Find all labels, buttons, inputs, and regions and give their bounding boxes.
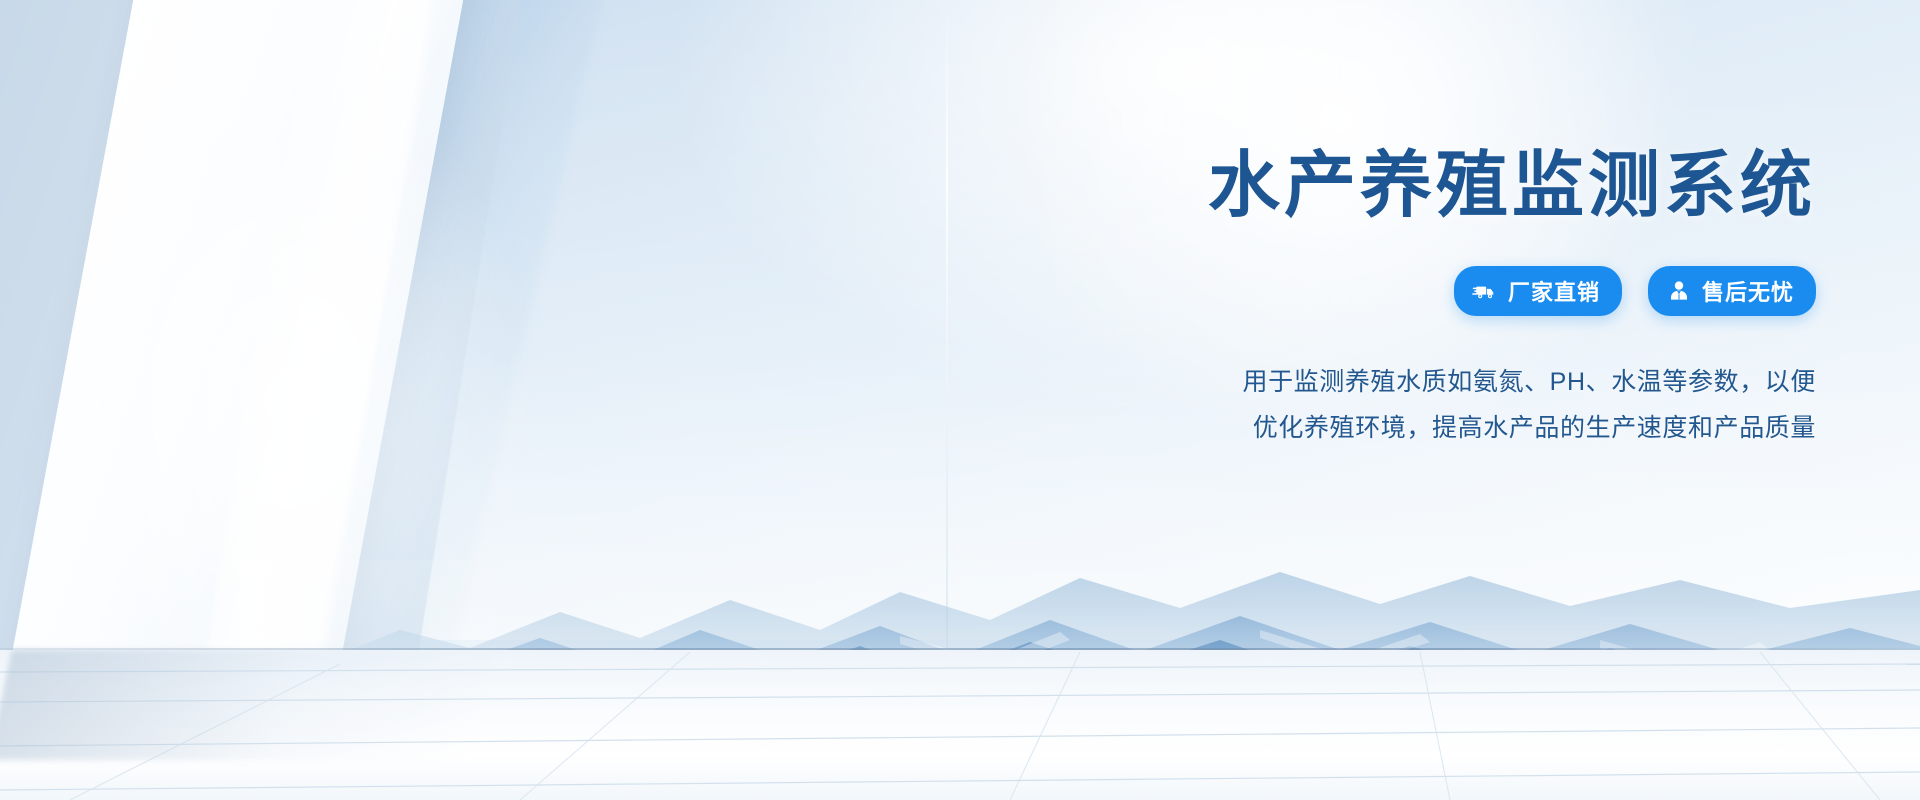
badge-label: 厂家直销 <box>1508 275 1600 307</box>
banner-content: 水产养殖监测系统 厂家直销 <box>956 150 1816 451</box>
truck-icon <box>1472 278 1498 304</box>
badge-after-sales[interactable]: 售后无忧 <box>1648 266 1816 316</box>
description-line: 优化养殖环境，提高水产品的生产速度和产品质量 <box>956 406 1816 452</box>
ground-shadow <box>0 650 492 760</box>
hero-banner: 水产养殖监测系统 厂家直销 <box>0 0 1920 800</box>
customer-service-icon <box>1666 278 1692 304</box>
banner-description: 用于监测养殖水质如氨氮、PH、水温等参数，以便 优化养殖环境，提高水产品的生产速… <box>956 360 1816 451</box>
description-line: 用于监测养殖水质如氨氮、PH、水温等参数，以便 <box>956 360 1816 406</box>
badge-label: 售后无忧 <box>1702 275 1794 307</box>
badge-factory-direct[interactable]: 厂家直销 <box>1454 266 1622 316</box>
badge-group: 厂家直销 售后无忧 <box>956 266 1816 316</box>
page-title: 水产养殖监测系统 <box>956 150 1816 222</box>
